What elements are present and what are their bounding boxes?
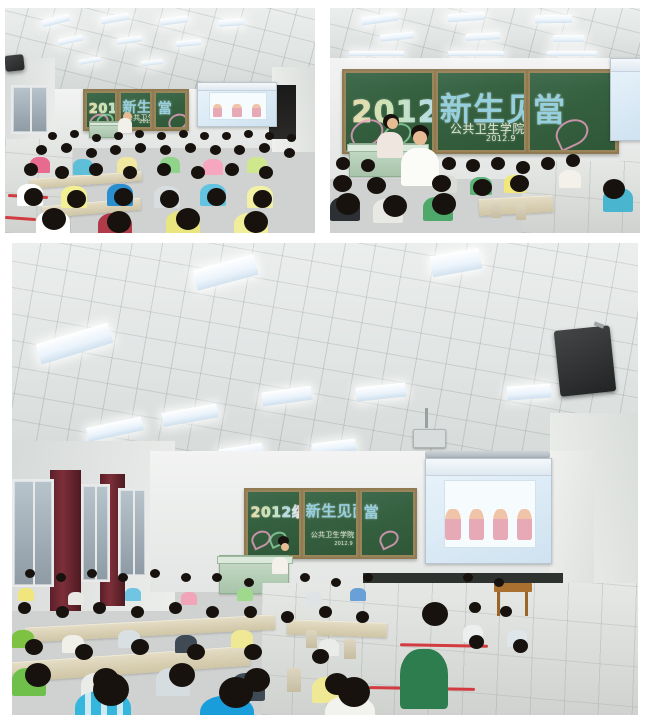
stool-leg — [525, 592, 528, 616]
foreground-head — [338, 677, 370, 707]
chair-back — [287, 668, 301, 692]
slide-toolbar — [611, 59, 640, 73]
chalkboard-panel-middle: 新生见面会 公共卫生学院 2012.9 — [303, 490, 358, 556]
foreground-head — [93, 673, 129, 706]
ceiling-light — [466, 32, 500, 41]
chalk-text-class-year: 2012级 — [251, 502, 301, 522]
chalkboard-panel-middle: 新生见面会 公共卫生学院 2012.9 — [436, 71, 526, 152]
lecture-hall-scene-panorama: 2012级 新生见面会 公共卫生学院 2012.9 當 — [12, 243, 638, 715]
projector-mount — [425, 408, 428, 428]
photo-collage: 2012级 新生见面会 公共卫生学院 2012.9 當 — [0, 0, 650, 726]
chalk-text-school: 公共卫生学院 — [311, 530, 355, 540]
speaker-body — [118, 118, 132, 133]
lecture-hall-scene-closeup: 2012级 新生见面会 公共卫生学院 2012.9 當 — [330, 8, 640, 233]
podium-top — [89, 122, 121, 127]
projection-screen — [425, 458, 552, 564]
ceiling-projector — [413, 429, 446, 448]
screen-roller — [425, 451, 550, 458]
chalkboard-panel-right: 當 — [528, 71, 618, 152]
slide-figure — [213, 104, 222, 117]
speaker-face — [281, 543, 289, 551]
slide-figure — [445, 509, 460, 540]
chair-back — [306, 630, 317, 648]
window — [11, 85, 49, 134]
board-light — [448, 51, 504, 57]
slide-figures — [441, 496, 536, 540]
ceiling-light — [535, 14, 572, 23]
window — [118, 488, 147, 577]
foreground-head — [219, 677, 253, 708]
slide-toolbar — [198, 83, 276, 91]
chalkboard: 2012级 新生见面会 公共卫生学院 2012.9 當 — [244, 488, 417, 558]
slide-figures — [207, 99, 266, 117]
chalk-swirl-decoration — [376, 527, 401, 550]
lecture-hall-scene-wide: 2012级 新生见面会 公共卫生学院 2012.9 當 — [5, 8, 315, 233]
projection-screen — [610, 58, 640, 141]
photo-top-left[interactable]: 2012级 新生见面会 公共卫生学院 2012.9 當 — [5, 8, 315, 233]
ceiling-light — [553, 35, 584, 42]
chalk-text-event-title: 新生见面会 — [306, 500, 358, 521]
chalk-text-date: 2012.9 — [334, 541, 353, 547]
slide-toolbar — [426, 459, 551, 477]
board-light — [547, 51, 597, 57]
standing-man-hair — [422, 602, 448, 626]
board-light — [349, 51, 405, 57]
host-female-body — [377, 132, 403, 158]
wall-speaker — [553, 325, 616, 397]
slide-figure — [517, 509, 532, 540]
slide-figure — [469, 509, 484, 540]
chalk-text-date: 2012.9 — [139, 119, 152, 125]
chalk-text-event-title-cont: 當 — [158, 98, 173, 118]
chair-back — [344, 639, 356, 659]
chair-back — [491, 202, 501, 218]
window — [81, 484, 110, 582]
photo-main-panorama[interactable]: 2012级 新生见面会 公共卫生学院 2012.9 當 — [12, 243, 638, 715]
speaker-body — [272, 557, 288, 574]
standing-man-body — [400, 649, 448, 709]
chalkboard-panel-right: 當 — [154, 91, 187, 129]
wall-speaker — [5, 54, 24, 72]
chair-back — [516, 204, 526, 220]
desk-row — [287, 619, 388, 638]
ceiling-light — [506, 383, 551, 400]
projection-screen — [197, 82, 277, 127]
curtain — [50, 470, 81, 612]
chalk-text-event-title-cont: 當 — [364, 501, 380, 522]
photo-top-right[interactable]: 2012级 新生见面会 公共卫生学院 2012.9 當 — [330, 8, 640, 233]
slide-figure — [493, 509, 508, 540]
slide-figure — [232, 104, 241, 117]
chalkboard-panel-right: 當 — [360, 490, 415, 556]
chalkboard-panel-left: 2012级 — [246, 490, 301, 556]
host-male-face — [413, 131, 427, 145]
slide-figure — [252, 104, 261, 117]
chalk-text-date: 2012.9 — [486, 134, 516, 143]
